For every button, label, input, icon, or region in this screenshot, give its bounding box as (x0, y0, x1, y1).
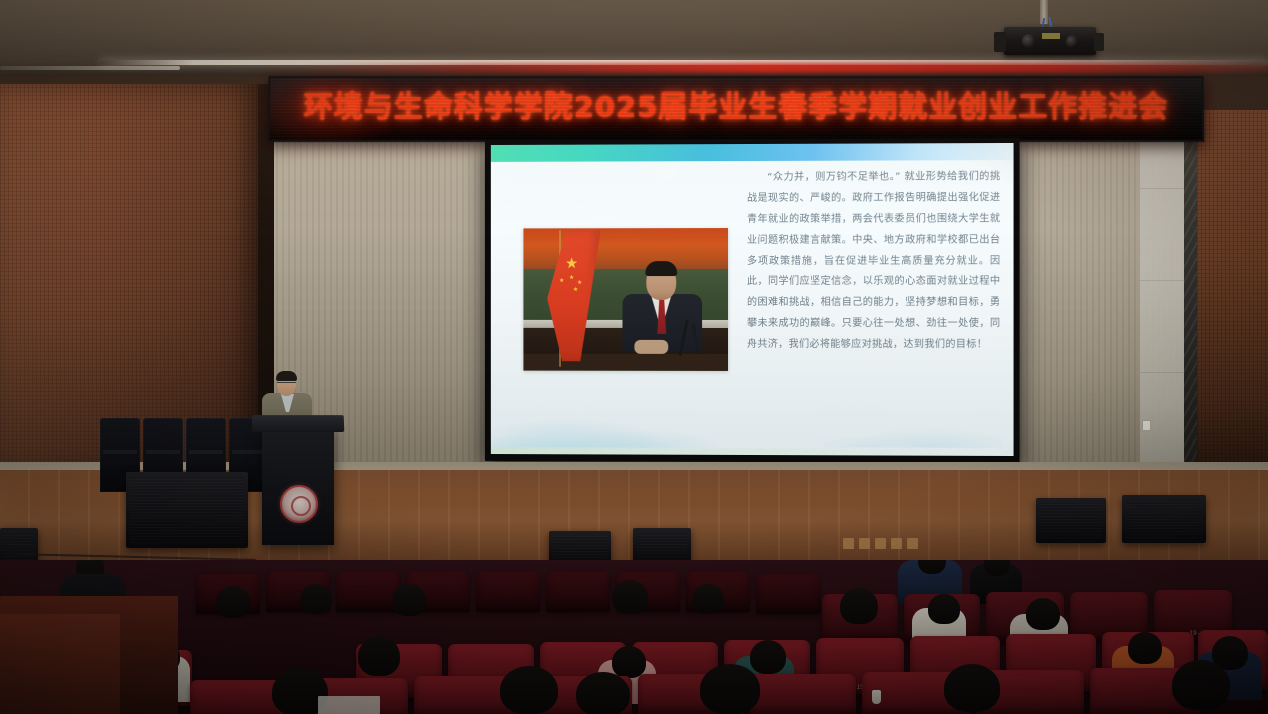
right-wood-acoustic-panel (1197, 110, 1268, 470)
audience-head (1026, 598, 1060, 630)
audience-head (840, 588, 878, 624)
audience-head (500, 666, 558, 714)
audience-head (928, 594, 960, 624)
stage-speaker-box (126, 472, 248, 548)
audience-paper (318, 696, 380, 714)
flag-star-small-icon: ★ (577, 280, 582, 286)
photo-person-hands (634, 340, 668, 354)
audience-head (1172, 660, 1230, 710)
university-seal-emblem (280, 485, 318, 523)
slide-mountain-watermark-right (824, 401, 1003, 448)
audience-head (1128, 632, 1162, 664)
audience-head (692, 584, 724, 614)
photo-backdrop-sky (523, 228, 728, 272)
seat (476, 572, 540, 612)
projector-label (1042, 33, 1060, 39)
photo-person-hair (645, 261, 677, 276)
stage-props-row (843, 538, 921, 550)
wall-power-outlet (1142, 420, 1151, 431)
flag-star-small-icon: ★ (569, 275, 574, 281)
ceiling-projector (1004, 27, 1096, 55)
audience-head (358, 636, 400, 676)
stage-monitor-speaker (549, 531, 611, 563)
stage-monitor-speaker-right-inner (1036, 498, 1106, 543)
stage-monitor-speaker (633, 528, 691, 562)
seat (546, 572, 610, 612)
projector-lens-icon (1022, 34, 1036, 48)
flag-star-small-icon: ★ (573, 287, 578, 293)
flag-star-small-icon: ★ (559, 278, 564, 284)
flag-star-large-icon: ★ (565, 256, 578, 271)
photo-desk-front (523, 354, 728, 371)
presenter-hair (276, 371, 297, 381)
projector-lens-secondary-icon (1066, 35, 1079, 48)
led-banner: 环境与生命科学学院2025届毕业生春季学期就业创业工作推进会 (268, 76, 1205, 142)
slide-bottom-band (491, 447, 1014, 456)
audience-area: -19- -14- -12- -15- -16- -17- -18- (0, 560, 1268, 714)
slide-mountain-watermark (491, 376, 813, 451)
presenter-glasses-icon (277, 382, 296, 387)
podium-top-surface (252, 415, 345, 432)
seat (750, 674, 856, 714)
audience-head (612, 580, 648, 614)
audience-head (300, 584, 332, 614)
audience-head (392, 584, 426, 616)
led-banner-text: 环境与生命科学学院2025届毕业生春季学期就业创业工作推进会 (270, 84, 1202, 126)
audience-cup (872, 690, 881, 704)
audience-head (576, 672, 630, 714)
slide-embedded-photo: ★ ★ ★ ★ ★ (523, 228, 728, 371)
audience-head (750, 640, 786, 674)
audience-head (944, 664, 1000, 712)
projection-screen-bezel: ★ ★ ★ ★ ★ “众力并，则万钧不足举也。” 就业形势给我们的挑战是现实的、… (485, 138, 1020, 463)
stage-monitor-speaker-right (1122, 495, 1206, 543)
ceiling-light-tube-left (0, 66, 180, 70)
audience-head (216, 586, 250, 618)
seat (756, 574, 820, 614)
front-wooden-rail-lower (0, 614, 120, 714)
audience-head (612, 646, 646, 678)
audience-head (700, 664, 760, 714)
ceiling-red-light-strip (300, 63, 1268, 73)
slide-top-gradient-band (491, 143, 1014, 162)
slide-body-text: “众力并，则万钧不足举也。” 就业形势给我们的挑战是现实的、严峻的。政府工作报告… (747, 167, 1000, 356)
projection-screen: ★ ★ ★ ★ ★ “众力并，则万钧不足举也。” 就业形势给我们的挑战是现实的、… (491, 143, 1014, 456)
auditorium-photo: 环境与生命科学学院2025届毕业生春季学期就业创业工作推进会 ★ ★ ★ ★ (0, 0, 1268, 714)
seat (336, 572, 400, 612)
podium (262, 425, 334, 545)
